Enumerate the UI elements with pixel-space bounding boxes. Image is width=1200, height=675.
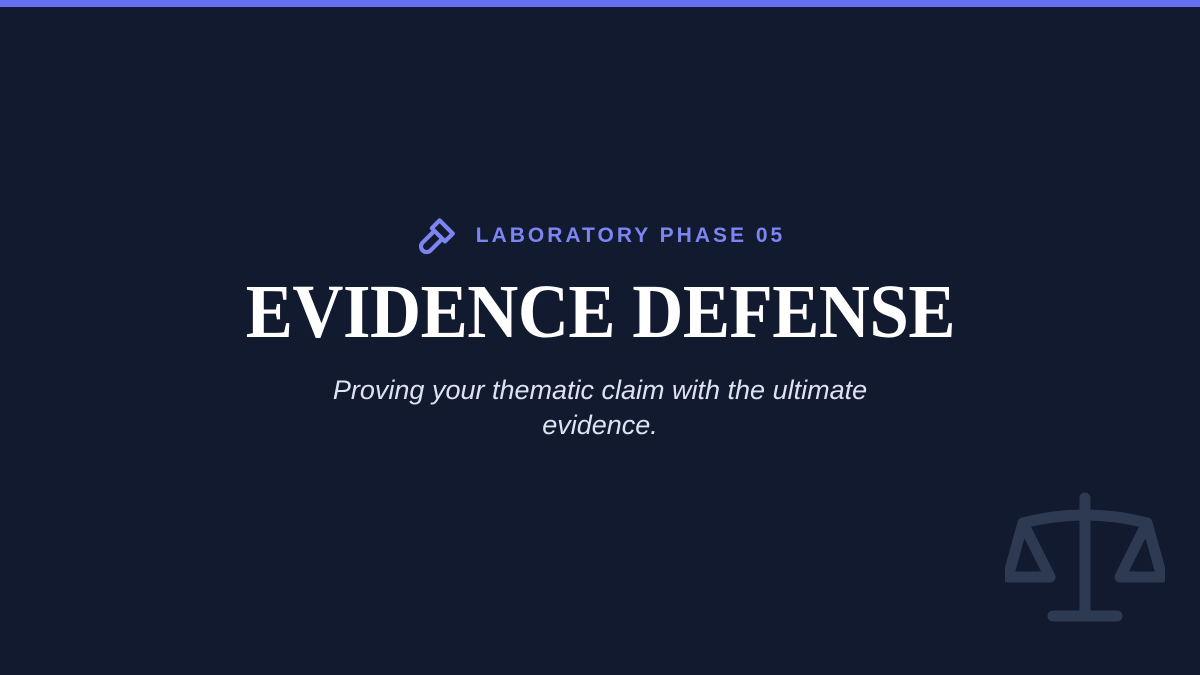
slide-root: LABORATORY PHASE 05 EVIDENCE DEFENSE Pro… xyxy=(0,0,1200,675)
eyebrow-row: LABORATORY PHASE 05 xyxy=(415,214,785,258)
eyebrow-label: LABORATORY PHASE 05 xyxy=(476,225,785,246)
page-title: EVIDENCE DEFENSE xyxy=(245,274,954,352)
slide-content: LABORATORY PHASE 05 EVIDENCE DEFENSE Pro… xyxy=(0,0,1200,675)
subtitle: Proving your thematic claim with the ult… xyxy=(320,373,880,443)
gavel-icon xyxy=(415,214,459,258)
